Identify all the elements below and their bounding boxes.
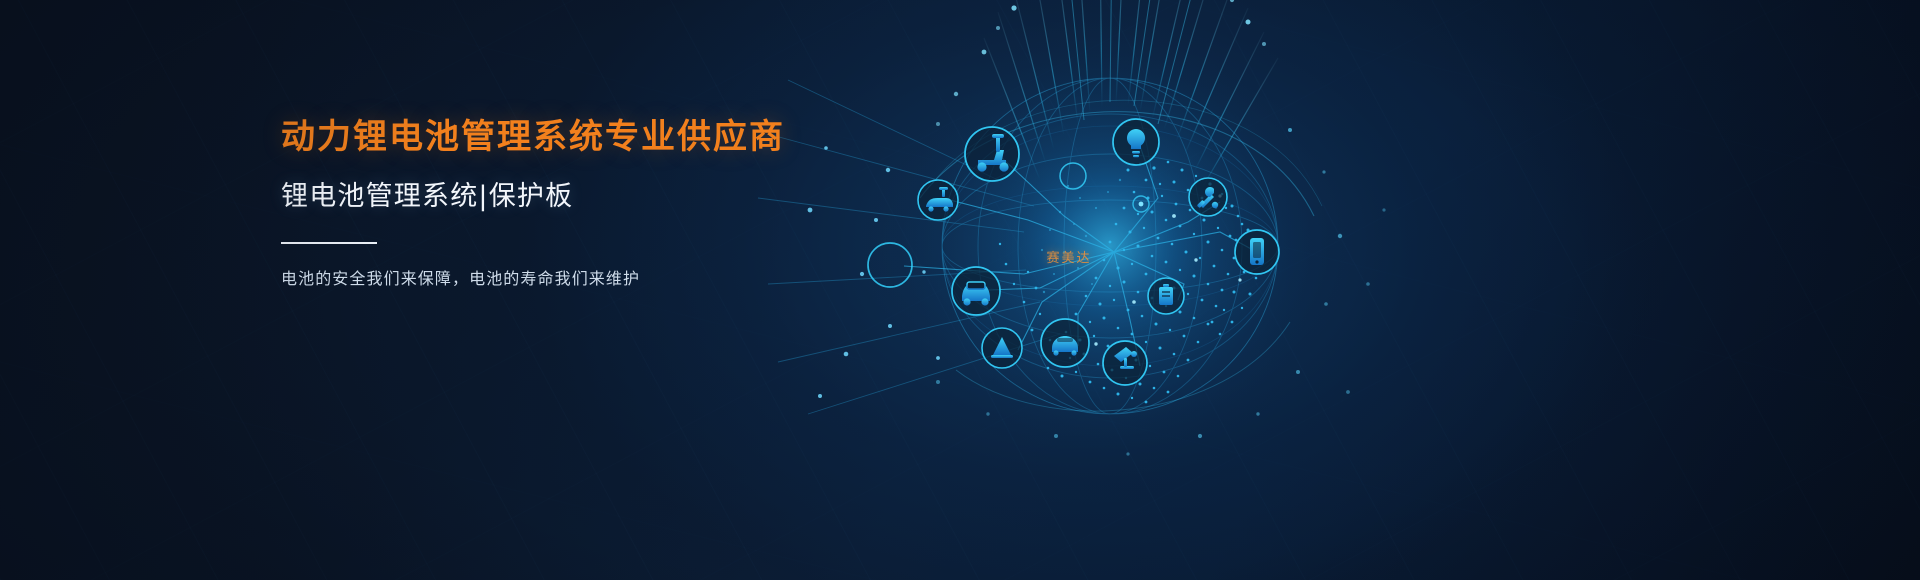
hero-banner: 赛美达 动力锂电池管理系统专业供应商 锂电池管理系统|保护板 电池的安全我们来保… [0,0,1920,580]
vignette-overlay [0,0,1920,580]
